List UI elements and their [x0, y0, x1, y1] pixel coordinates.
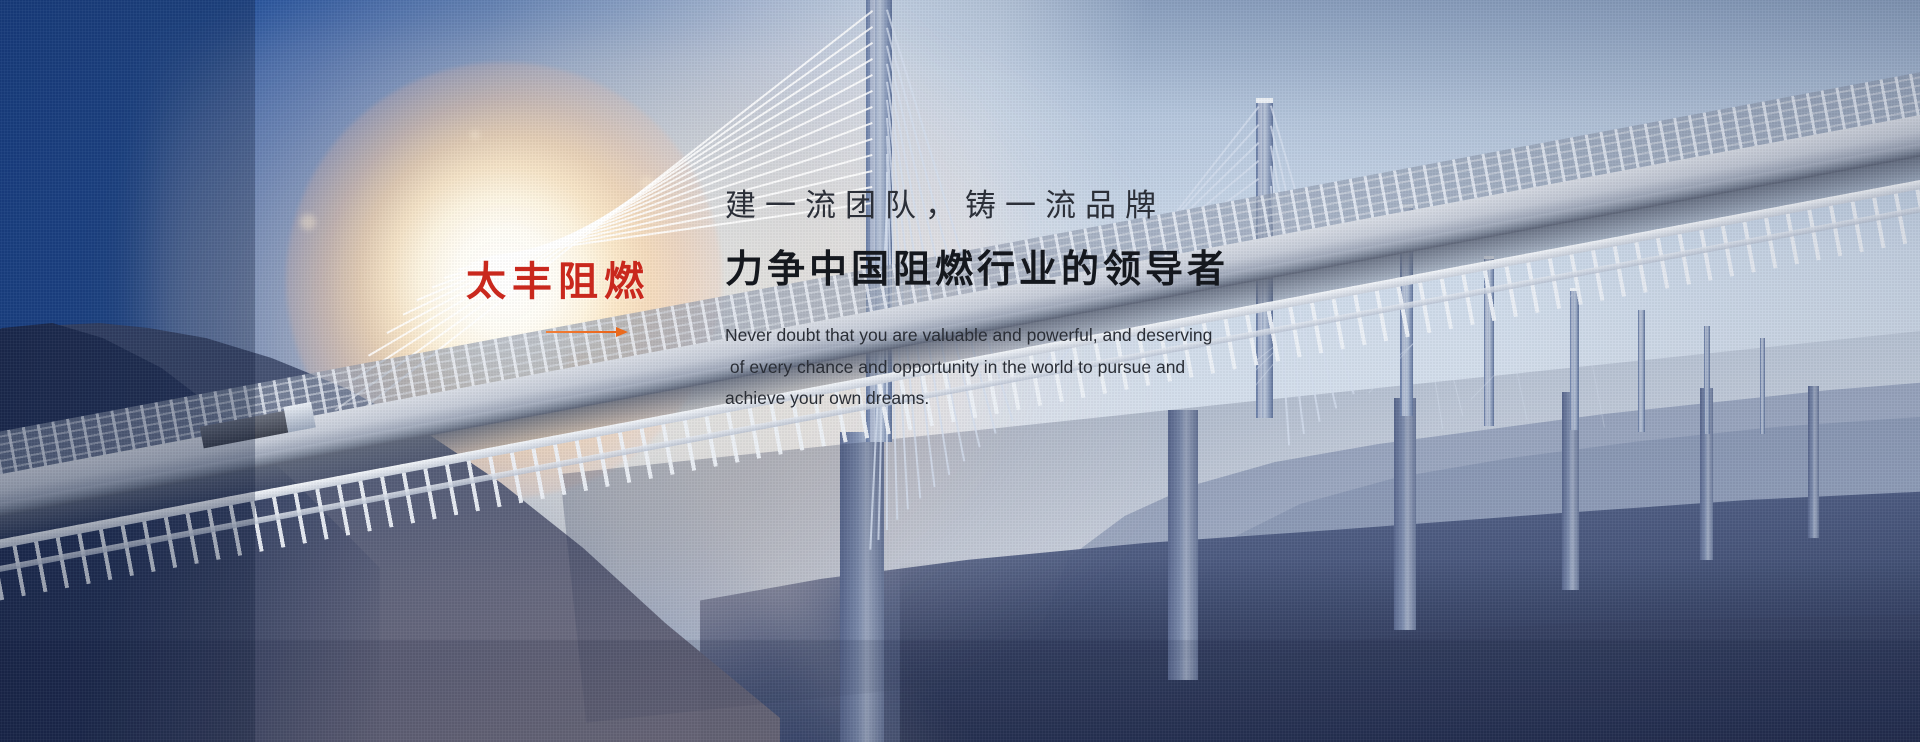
company-logo-text: 太丰阻燃 — [466, 262, 666, 302]
arrow-shaft — [546, 331, 620, 333]
banner-description: Never doubt that you are valuable and po… — [725, 320, 1345, 416]
arrow-right-icon — [546, 326, 628, 338]
hero-banner: 太丰阻燃 建一流团队，铸一流品牌 力争中国阻燃行业的领导者 Never doub… — [0, 0, 1920, 742]
banner-copy: 建一流团队，铸一流品牌 力争中国阻燃行业的领导者 Never doubt tha… — [725, 186, 1345, 415]
banner-title: 力争中国阻燃行业的领导者 — [725, 246, 1345, 294]
banner-content: 太丰阻燃 建一流团队，铸一流品牌 力争中国阻燃行业的领导者 Never doub… — [0, 0, 1920, 742]
banner-subtitle: 建一流团队，铸一流品牌 — [725, 186, 1345, 226]
arrow-head — [616, 327, 628, 337]
company-logo[interactable]: 太丰阻燃 — [466, 262, 666, 338]
